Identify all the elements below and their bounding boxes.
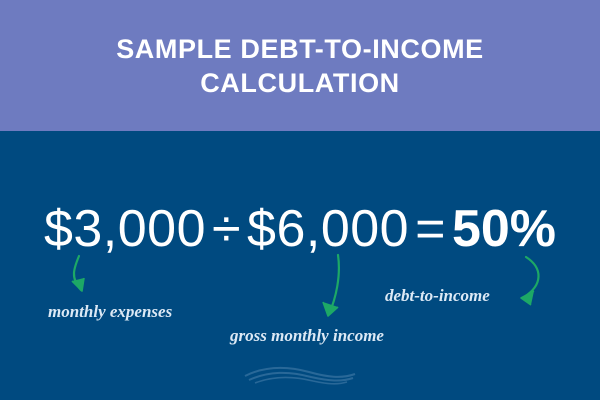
header-band: SAMPLE DEBT-TO-INCOME CALCULATION (0, 0, 600, 131)
body-area: $3,000÷$6,000=50% (0, 131, 600, 400)
annotation-debt-to-income: debt-to-income (385, 286, 490, 306)
divide-operator-icon: ÷ (206, 200, 247, 258)
infographic-root: SAMPLE DEBT-TO-INCOME CALCULATION $3,000… (0, 0, 600, 400)
annotation-gross-monthly-income: gross monthly income (230, 326, 384, 346)
page-title: SAMPLE DEBT-TO-INCOME CALCULATION (40, 32, 560, 100)
formula-numerator: $3,000 (44, 200, 206, 258)
formula-result: 50% (452, 200, 556, 258)
formula-expression: $3,000÷$6,000=50% (0, 200, 600, 258)
annotation-monthly-expenses: monthly expenses (48, 302, 172, 322)
wave-swoosh-icon (243, 362, 357, 388)
formula-denominator: $6,000 (247, 200, 409, 258)
equals-operator-icon: = (409, 200, 452, 258)
